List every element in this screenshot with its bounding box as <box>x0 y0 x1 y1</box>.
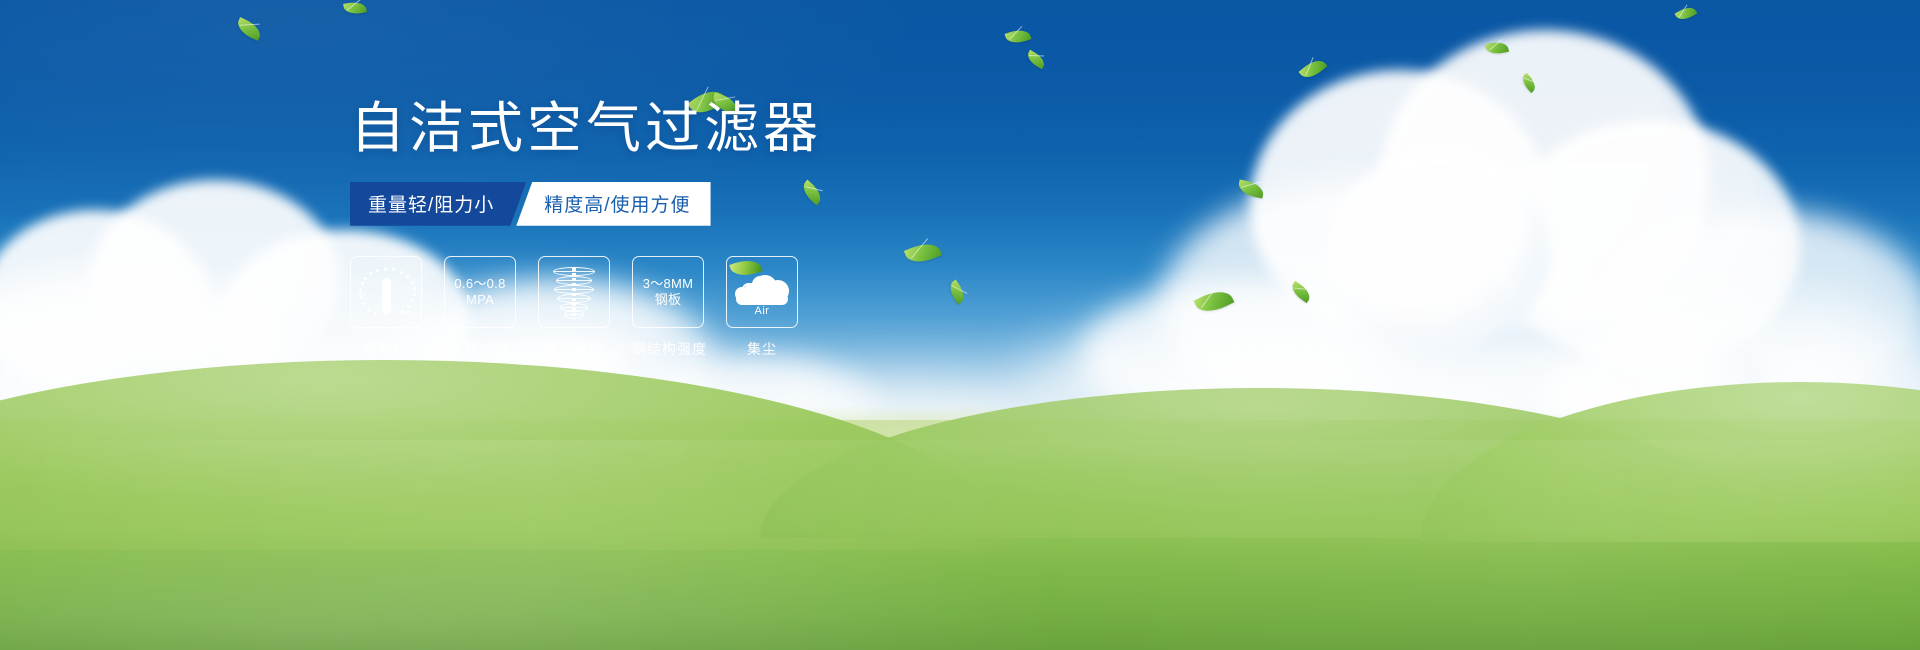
feature-blowback: 强力反吹 <box>538 256 610 359</box>
feature-row: NO OFF 控制仪 0.6～0.8 MPA 二级过滤 <box>350 256 970 359</box>
steel-value-line1: 3～8MM <box>643 276 694 292</box>
feature-icon-box: 0.6～0.8 MPA <box>444 256 516 328</box>
air-cloud-icon: Air <box>733 269 791 315</box>
coil-blowback-icon <box>553 266 595 318</box>
gauge-label-off: OFF <box>401 311 413 317</box>
feature-icon-box: Air <box>726 256 798 328</box>
feature-label: 钢结构强度 <box>632 339 704 359</box>
badge-row: 重量轻/阻力小 精度高/使用方便 <box>350 182 970 226</box>
feature-label: 控制仪 <box>350 339 422 359</box>
pressure-value-line2: MPA <box>466 292 494 308</box>
feature-label: 二级过滤 <box>444 339 516 359</box>
feature-icon-box: NO OFF <box>350 256 422 328</box>
feature-steel-strength: 3～8MM 钢板 钢结构强度 <box>632 256 704 359</box>
feature-label: 强力反吹 <box>538 339 610 359</box>
pressure-value-line1: 0.6～0.8 <box>454 276 505 292</box>
grass-field <box>0 420 1920 650</box>
feature-secondary-filter: 0.6～0.8 MPA 二级过滤 <box>444 256 516 359</box>
badge-weight-resistance: 重量轻/阻力小 <box>350 182 526 226</box>
steel-value-line2: 钢板 <box>655 292 682 308</box>
feature-icon-box: 3～8MM 钢板 <box>632 256 704 328</box>
hero-banner: 自洁式空气过滤器 重量轻/阻力小 精度高/使用方便 <box>0 0 1920 650</box>
feature-dust-collection: Air 集尘 <box>726 256 798 359</box>
feature-label: 集尘 <box>726 339 798 359</box>
air-cloud-label: Air <box>733 305 791 317</box>
page-title: 自洁式空气过滤器 <box>350 100 970 158</box>
gauge-label-no: NO <box>357 292 366 298</box>
banner-content: 自洁式空气过滤器 重量轻/阻力小 精度高/使用方便 <box>350 100 970 359</box>
grass-shadow <box>0 530 1920 650</box>
gauge-dial-icon: NO OFF <box>358 266 414 318</box>
feature-controller: NO OFF 控制仪 <box>350 256 422 359</box>
feature-icon-box <box>538 256 610 328</box>
badge-precision-convenience: 精度高/使用方便 <box>516 182 710 226</box>
